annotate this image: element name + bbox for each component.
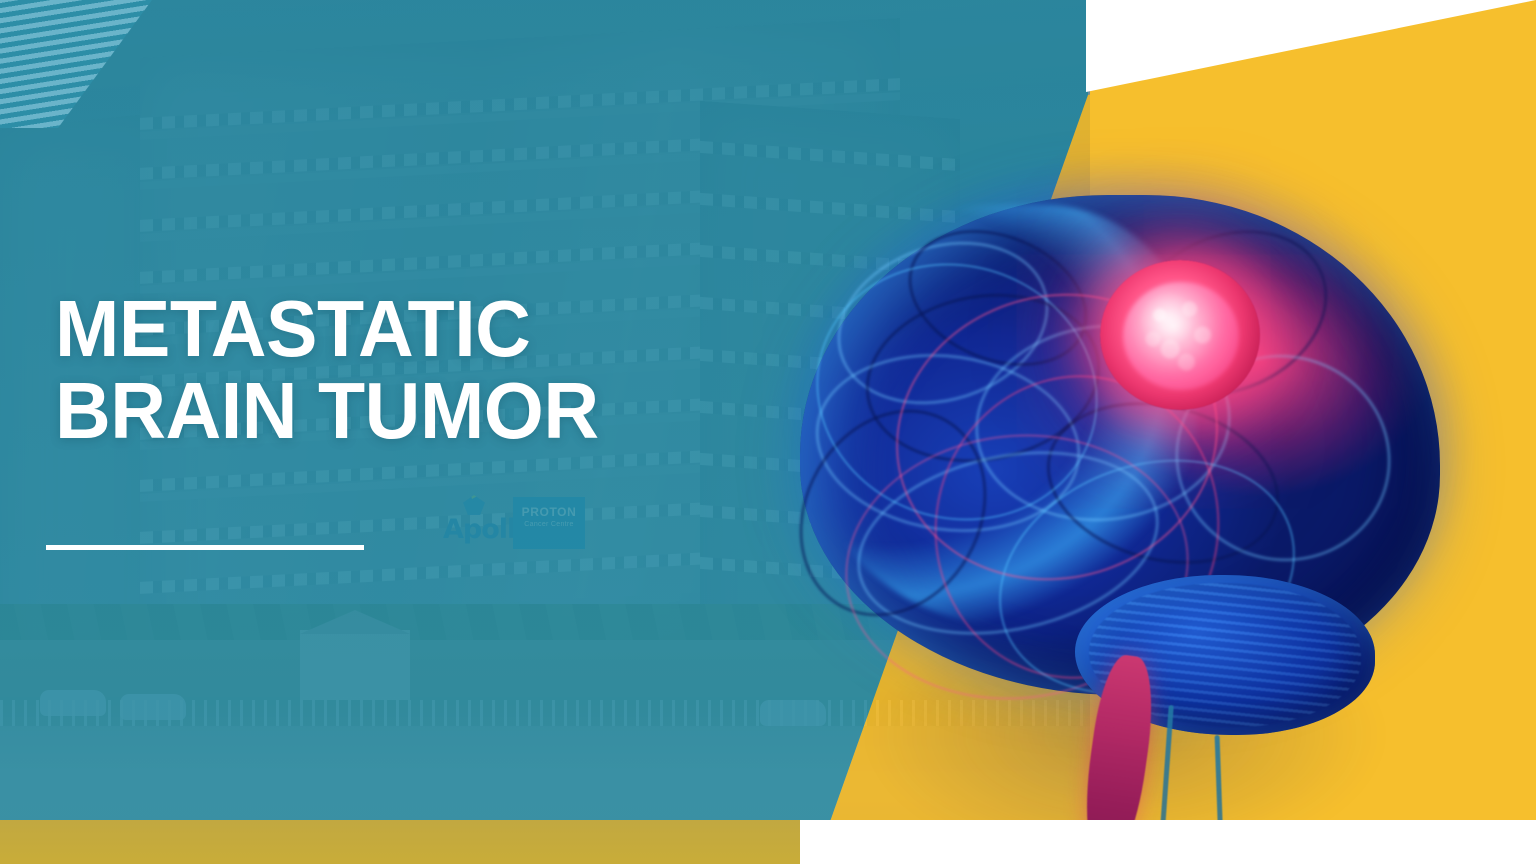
brain-illustration <box>745 175 1485 855</box>
title-divider-rule <box>46 545 364 550</box>
headline-line-2: BRAIN TUMOR <box>55 370 750 452</box>
slide-canvas: Apollo PROTON Cancer Centre <box>0 0 1536 864</box>
tumor-texture <box>1127 287 1235 387</box>
headline-line-1: METASTATIC <box>55 284 530 373</box>
bottom-band-photo-tint <box>0 820 812 864</box>
page-title: METASTATIC BRAIN TUMOR <box>55 288 750 453</box>
bottom-white-band <box>800 820 1536 864</box>
